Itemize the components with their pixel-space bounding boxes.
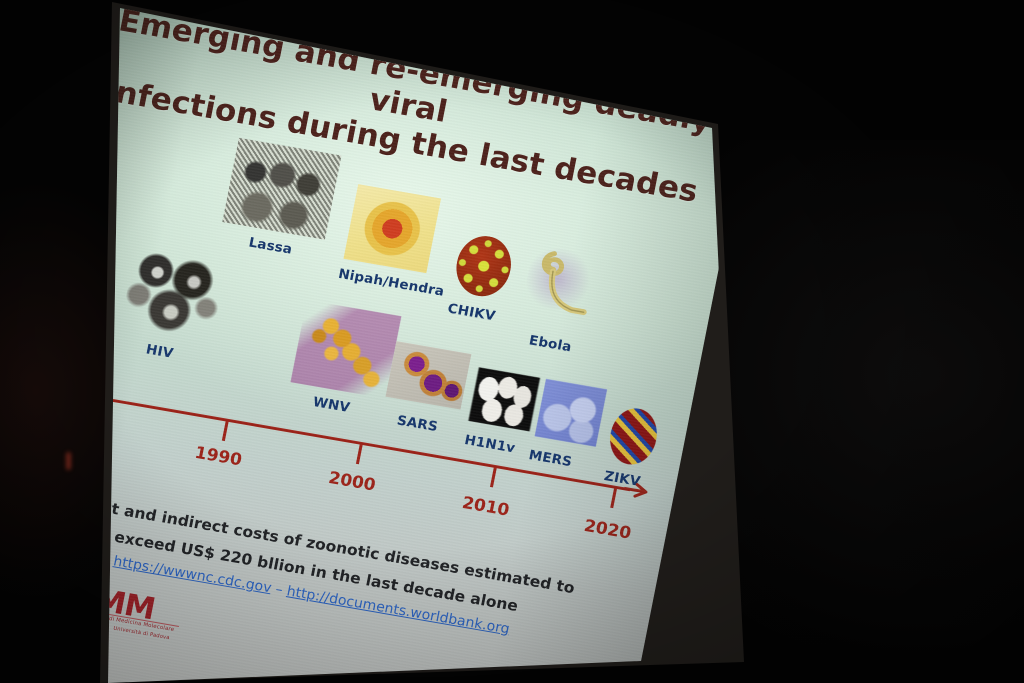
timeline-tick-1990 <box>222 420 229 442</box>
timeline-arrow-icon <box>622 479 656 505</box>
virus-label-sars: SARS <box>396 413 440 435</box>
virus-image-wnv <box>290 300 401 399</box>
page-title: Emerging and re-emerging deadly viral in… <box>67 0 750 215</box>
virus-label-h1n1v: H1N1v <box>463 432 516 456</box>
photo-of-projected-slide: Emerging and re-emerging deadly viral in… <box>0 0 1024 683</box>
timeline-year-2010: 2010 <box>460 493 510 520</box>
virus-label-hiv: HIV <box>145 342 175 362</box>
room-light-speck <box>66 452 71 470</box>
timeline-tick-2010 <box>490 466 497 488</box>
virus-image-nipah-hendra <box>343 184 441 273</box>
virus-label-mers: MERS <box>527 447 573 470</box>
virus-label-lassa: Lassa <box>247 235 293 258</box>
virus-image-lassa <box>222 138 341 240</box>
ebola-filament-icon <box>519 240 606 333</box>
virus-image-sars <box>386 341 472 409</box>
timeline-tick-2020 <box>610 487 617 509</box>
virus-label-ebola: Ebola <box>528 333 573 356</box>
virus-image-ebola <box>519 240 606 333</box>
timeline-year-1990: 1990 <box>193 443 243 470</box>
timeline-tick-2000 <box>356 443 363 465</box>
virus-image-h1n1v <box>468 367 540 431</box>
virus-image-hiv <box>120 247 229 345</box>
timeline-year-2020: 2020 <box>582 516 632 543</box>
virus-label-nipah-hendra: Nipah/Hendra <box>337 266 446 300</box>
virus-image-mers <box>535 379 607 447</box>
virus-image-chikv <box>451 232 516 300</box>
virus-image-zikv <box>605 405 661 468</box>
timeline-year-2000: 2000 <box>327 468 377 495</box>
virus-label-wnv: WNV <box>312 394 352 416</box>
virus-label-chikv: CHIKV <box>446 301 496 324</box>
